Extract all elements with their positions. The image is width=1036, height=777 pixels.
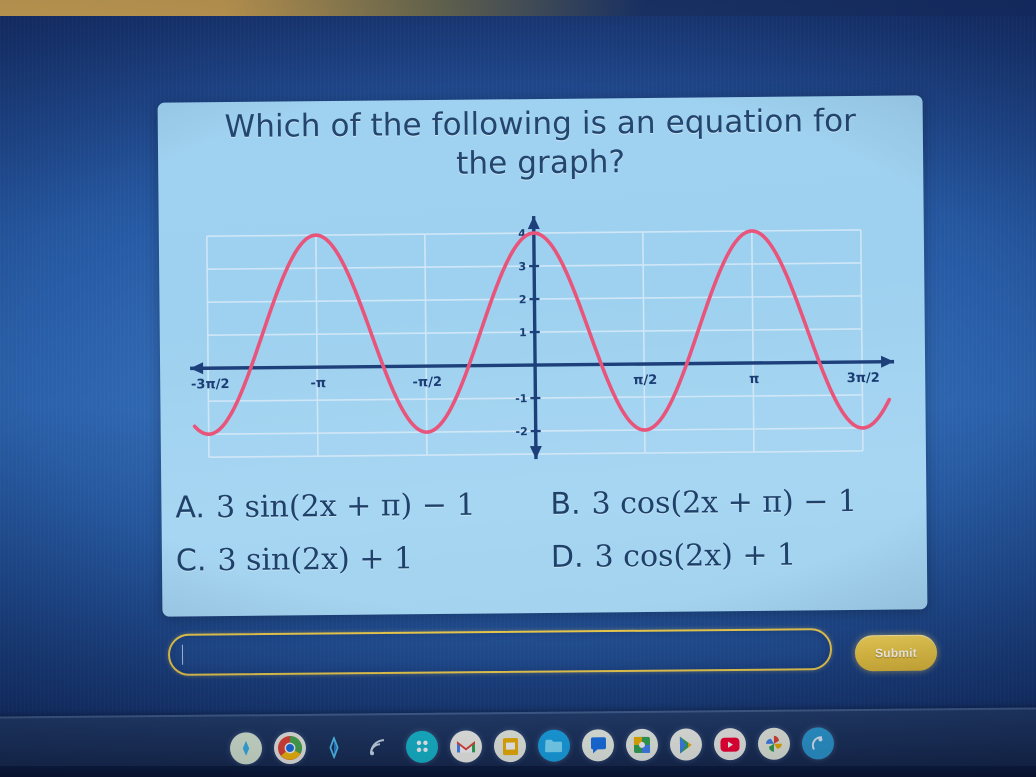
choices-row-2: C. 3 sin(2x) + 1 D. 3 cos(2x) + 1 bbox=[176, 536, 916, 578]
y-axis bbox=[528, 216, 542, 459]
text-caret bbox=[182, 645, 183, 665]
y-tick-label: 2 bbox=[519, 293, 527, 306]
apps-grid-icon[interactable] bbox=[406, 731, 438, 763]
x-tick-label: 3π/2 bbox=[847, 371, 880, 386]
choice-d-expression: 3 cos(2x) + 1 bbox=[594, 538, 796, 575]
answer-input[interactable] bbox=[168, 628, 832, 676]
choice-b-label: B. bbox=[550, 487, 580, 522]
classroom-icon[interactable] bbox=[626, 729, 658, 761]
question-text: Which of the following is an equation fo… bbox=[178, 102, 904, 188]
choice-a-label: A. bbox=[175, 490, 205, 525]
files-icon[interactable] bbox=[538, 730, 570, 762]
y-tick-label: 1 bbox=[519, 326, 527, 339]
trig-graph-svg: -3π/2 -π -π/2 π/2 π 3π/2 bbox=[171, 207, 913, 464]
gemini-icon[interactable] bbox=[318, 731, 350, 763]
choice-c-label: C. bbox=[176, 543, 207, 578]
choice-a-expression: 3 sin(2x + π) − 1 bbox=[216, 488, 476, 525]
gmail-icon[interactable] bbox=[450, 730, 482, 762]
x-tick-label: -3π/2 bbox=[191, 377, 230, 392]
choice-c-expression: 3 sin(2x) + 1 bbox=[217, 541, 413, 578]
x-tick-label: π bbox=[749, 372, 759, 387]
chrome-icon[interactable] bbox=[274, 732, 306, 764]
y-tick-label: 3 bbox=[518, 260, 526, 273]
choices-row-1: A. 3 sin(2x + π) − 1 B. 3 cos(2x + π) − … bbox=[175, 483, 915, 525]
choice-d[interactable]: D. 3 cos(2x) + 1 bbox=[551, 536, 911, 574]
question-line-2: the graph? bbox=[178, 141, 903, 187]
reading-icon[interactable] bbox=[802, 727, 834, 759]
x-axis bbox=[190, 356, 894, 375]
cast-icon[interactable] bbox=[362, 731, 394, 763]
answer-choices: A. 3 sin(2x + π) − 1 B. 3 cos(2x + π) − … bbox=[175, 483, 916, 596]
choice-a[interactable]: A. 3 sin(2x + π) − 1 bbox=[175, 487, 550, 526]
choice-b[interactable]: B. 3 cos(2x + π) − 1 bbox=[550, 483, 910, 521]
launcher-icon[interactable] bbox=[230, 732, 262, 764]
answer-row: Submit bbox=[163, 629, 928, 677]
monitor-bezel-top bbox=[0, 0, 1036, 16]
choice-c[interactable]: C. 3 sin(2x) + 1 bbox=[176, 540, 551, 579]
x-tick-label: -π bbox=[310, 376, 326, 391]
play-store-icon[interactable] bbox=[670, 728, 702, 760]
chat-icon[interactable] bbox=[582, 729, 614, 761]
slides-icon[interactable] bbox=[494, 730, 526, 762]
choice-b-expression: 3 cos(2x + π) − 1 bbox=[591, 484, 857, 522]
shelf-app-list bbox=[230, 727, 834, 764]
y-tick-label: -2 bbox=[515, 425, 527, 438]
question-line-1: Which of the following is an equation fo… bbox=[178, 102, 903, 148]
x-tick-label: π/2 bbox=[633, 373, 657, 388]
question-card: Which of the following is an equation fo… bbox=[158, 95, 928, 616]
submit-button[interactable]: Submit bbox=[855, 635, 937, 672]
y-tick-label: -1 bbox=[515, 392, 527, 405]
pinwheel-icon[interactable] bbox=[758, 728, 790, 760]
graph-figure: -3π/2 -π -π/2 π/2 π 3π/2 bbox=[171, 207, 913, 464]
shelf-bottom-edge bbox=[0, 766, 1036, 777]
youtube-icon[interactable] bbox=[714, 728, 746, 760]
choice-d-label: D. bbox=[551, 540, 584, 575]
x-tick-label: -π/2 bbox=[412, 375, 442, 390]
screen-photo: Which of the following is an equation fo… bbox=[0, 0, 1036, 777]
